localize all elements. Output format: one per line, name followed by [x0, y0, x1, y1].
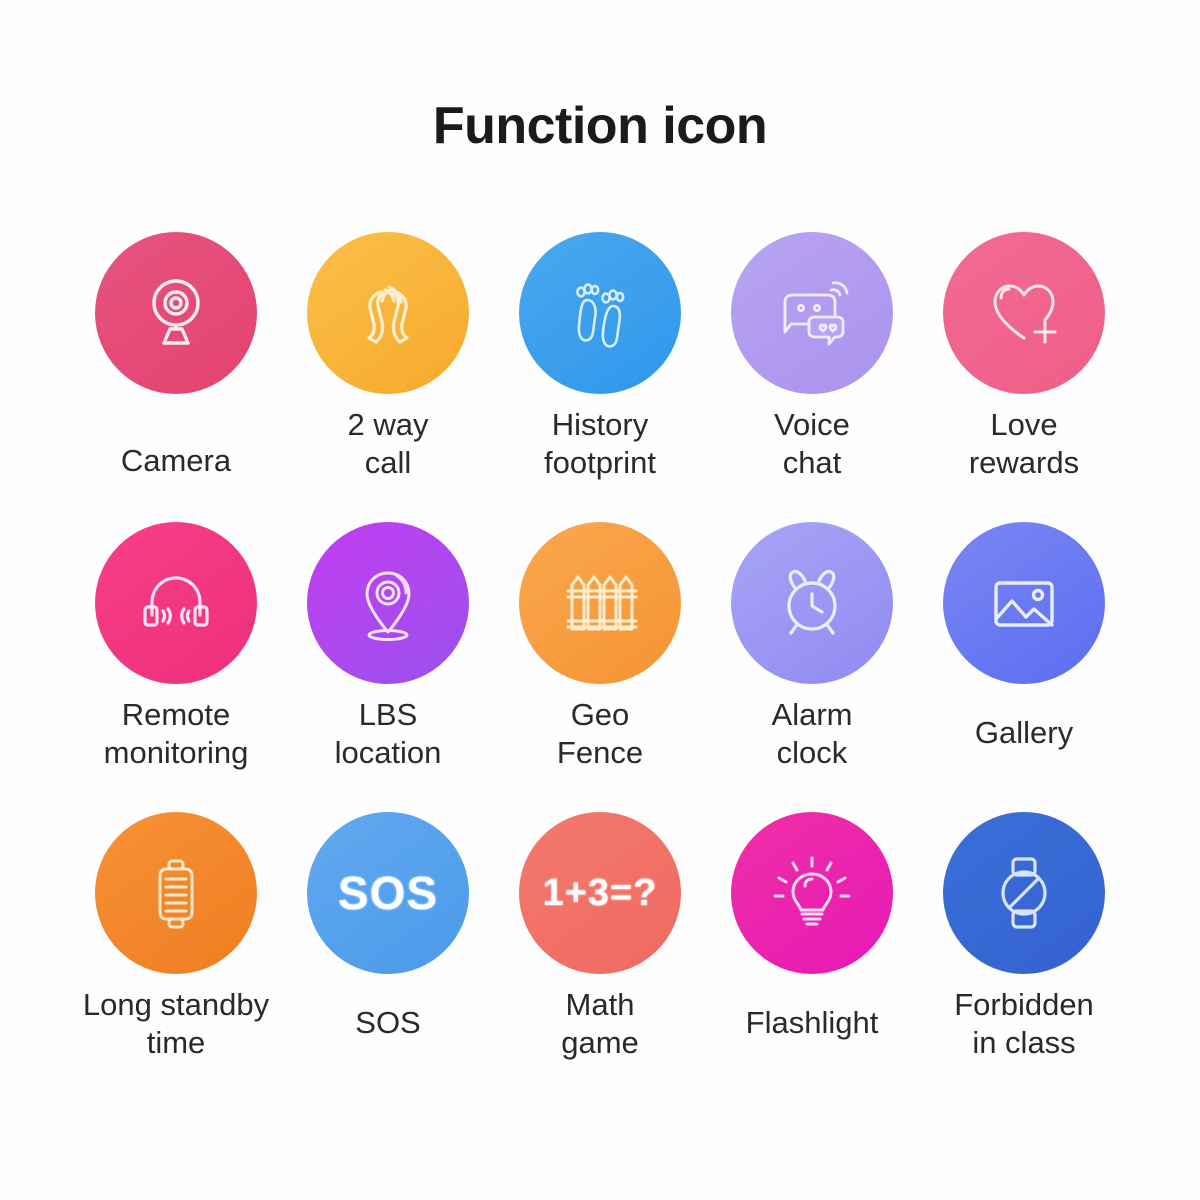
icon-row-1: Camera 2 way call	[70, 232, 1130, 522]
caption-remote-monitoring: Remote monitoring	[70, 696, 282, 772]
lbs-location-bubble[interactable]	[307, 522, 469, 684]
sos-bubble[interactable]: SOS	[307, 812, 469, 974]
grid-cell-love-rewards[interactable]: Love rewards	[918, 232, 1130, 482]
grid-cell-math-game[interactable]: 1+3=? Math game	[494, 812, 706, 1062]
flashlight-bubble[interactable]	[731, 812, 893, 974]
caption-camera: Camera	[70, 442, 282, 480]
grid-cell-camera[interactable]: Camera	[70, 232, 282, 480]
no-watch-icon	[982, 851, 1066, 935]
two-way-call-icon	[345, 270, 431, 356]
caption-voice-chat: Voice chat	[706, 406, 918, 482]
image-icon	[982, 561, 1066, 645]
caption-forbidden-in-class: Forbidden in class	[918, 986, 1130, 1062]
remote-monitoring-bubble[interactable]	[95, 522, 257, 684]
grid-cell-gallery[interactable]: Gallery	[918, 522, 1130, 752]
page-title: Function icon	[0, 96, 1200, 156]
caption-history-footprint: History footprint	[494, 406, 706, 482]
grid-cell-forbidden-in-class[interactable]: Forbidden in class	[918, 812, 1130, 1062]
grid-cell-flashlight[interactable]: Flashlight	[706, 812, 918, 1042]
caption-lbs-location: LBS location	[282, 696, 494, 772]
grid-cell-lbs-location[interactable]: LBS location	[282, 522, 494, 772]
map-pin-icon	[345, 560, 431, 646]
caption-love-rewards: Love rewards	[918, 406, 1130, 482]
grid-cell-voice-chat[interactable]: Voice chat	[706, 232, 918, 482]
alarm-clock-icon	[769, 560, 855, 646]
two-way-call-bubble[interactable]	[307, 232, 469, 394]
sos-text-icon: SOS	[338, 866, 438, 920]
math-equation-icon: 1+3=?	[543, 872, 658, 915]
love-rewards-bubble[interactable]	[943, 232, 1105, 394]
icon-grid: Camera 2 way call	[70, 232, 1130, 1102]
caption-geo-fence: Geo Fence	[494, 696, 706, 772]
lightbulb-icon	[769, 850, 855, 936]
geo-fence-bubble[interactable]	[519, 522, 681, 684]
math-game-bubble[interactable]: 1+3=?	[519, 812, 681, 974]
footprints-icon	[557, 270, 643, 356]
voice-chat-bubble[interactable]	[731, 232, 893, 394]
fence-icon	[558, 561, 642, 645]
function-icon-poster: Function icon Camera	[0, 0, 1200, 1200]
grid-cell-alarm-clock[interactable]: Alarm clock	[706, 522, 918, 772]
speech-bubbles-icon	[769, 270, 855, 356]
grid-cell-long-standby-time[interactable]: Long standby time	[70, 812, 282, 1062]
history-footprint-bubble[interactable]	[519, 232, 681, 394]
grid-cell-sos[interactable]: SOS SOS	[282, 812, 494, 1042]
alarm-clock-bubble[interactable]	[731, 522, 893, 684]
caption-long-standby-time: Long standby time	[70, 986, 282, 1062]
headphones-icon	[132, 559, 220, 647]
grid-cell-geo-fence[interactable]: Geo Fence	[494, 522, 706, 772]
caption-two-way-call: 2 way call	[282, 406, 494, 482]
forbidden-in-class-bubble[interactable]	[943, 812, 1105, 974]
long-standby-bubble[interactable]	[95, 812, 257, 974]
icon-row-2: Remote monitoring LBS location	[70, 522, 1130, 812]
webcam-icon	[134, 271, 218, 355]
caption-alarm-clock: Alarm clock	[706, 696, 918, 772]
icon-row-3: Long standby time SOS SOS 1+3=? Math gam…	[70, 812, 1130, 1102]
gallery-bubble[interactable]	[943, 522, 1105, 684]
heart-plus-icon	[981, 270, 1067, 356]
caption-math-game: Math game	[494, 986, 706, 1062]
camera-bubble[interactable]	[95, 232, 257, 394]
caption-flashlight: Flashlight	[706, 1004, 918, 1042]
grid-cell-remote-monitoring[interactable]: Remote monitoring	[70, 522, 282, 772]
battery-icon	[134, 851, 218, 935]
caption-gallery: Gallery	[918, 714, 1130, 752]
grid-cell-history-footprint[interactable]: History footprint	[494, 232, 706, 482]
grid-cell-two-way-call[interactable]: 2 way call	[282, 232, 494, 482]
caption-sos: SOS	[282, 1004, 494, 1042]
